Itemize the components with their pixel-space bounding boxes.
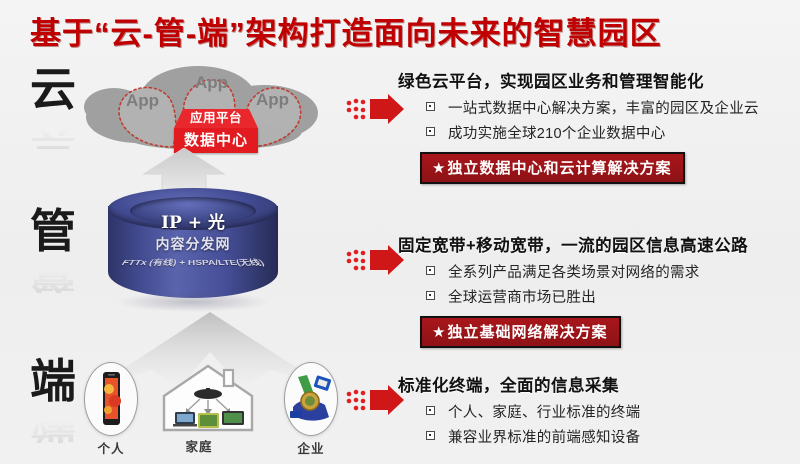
bullet-square-icon xyxy=(426,127,435,136)
list-item: 个人、家庭、行业标准的终端 xyxy=(426,401,798,422)
terminal-bullet-list: 个人、家庭、行业标准的终端 兼容业界标准的前端感知设备 xyxy=(426,401,798,447)
datacenter-box: 应用平台 数据中心 xyxy=(174,109,258,153)
bullet-square-icon xyxy=(426,102,435,111)
text-block-pipe: 固定宽带+移动宽带，一流的园区信息高速公路 全系列产品满足各类场景对网络的需求 … xyxy=(398,232,798,348)
bullet-square-icon xyxy=(426,406,435,415)
industrial-meter-icon xyxy=(284,362,338,436)
app-bubble-right-label: App xyxy=(256,90,289,110)
cylinder-shadow xyxy=(116,292,270,312)
pipe-bullet-list: 全系列产品满足各类场景对网络的需求 全球运营商市场已胜出 xyxy=(426,261,798,307)
app-bubble-left-label: App xyxy=(126,91,159,111)
page-title: 基于“云-管-端”架构打造面向未来的智慧园区 xyxy=(30,8,770,53)
star-icon: ★ xyxy=(432,324,446,341)
cloud-callout-badge: ★独立数据中心和云计算解决方案 xyxy=(420,152,685,184)
red-arrow-cloud-icon xyxy=(344,92,406,126)
cloud-graphic: App App App 应用平台 数据中心 xyxy=(78,55,346,160)
cloud-bullet-2: 成功实施全球210个企业数据中心 xyxy=(448,126,666,142)
bullet-square-icon xyxy=(426,266,435,275)
red-arrow-pipe-icon xyxy=(344,243,406,277)
text-block-cloud: 绿色云平台，实现园区业务和管理智能化 一站式数据中心解决方案，丰富的园区及企业云… xyxy=(398,68,798,184)
pipe-callout-badge: ★独立基础网络解决方案 xyxy=(420,316,621,348)
terminal-enterprise-label: 企业 xyxy=(272,438,350,457)
layer-label-pipe: 管 管 xyxy=(22,208,84,302)
terminal-bullet-1: 个人、家庭、行业标准的终端 xyxy=(448,405,640,421)
cylinder-cdn-label: 内容分发网 xyxy=(100,234,286,254)
layer-label-pipe-reflection: 管 xyxy=(22,265,84,294)
terminal-home[interactable]: 家庭 xyxy=(160,362,238,455)
cloud-callout-text: 独立数据中心和云计算解决方案 xyxy=(447,160,671,177)
layer-label-cloud-text: 云 xyxy=(30,62,76,116)
terminal-personal[interactable]: 个人 xyxy=(72,362,150,457)
list-item: 成功实施全球210个企业数据中心 xyxy=(426,122,798,143)
terminal-heading: 标准化终端，全面的信息采集 xyxy=(398,372,798,396)
cylinder-access-label: FTTx (有线) + HSPA/LTE(无线) xyxy=(95,256,292,267)
app-bubble-mid-label: App xyxy=(195,73,228,93)
terminal-enterprise[interactable]: 企业 xyxy=(272,362,350,457)
slide-canvas: 基于“云-管-端”架构打造面向未来的智慧园区 云 云 管 管 端 端 xyxy=(0,0,800,464)
text-block-terminal: 标准化终端，全面的信息采集 个人、家庭、行业标准的终端 兼容业界标准的前端感知设… xyxy=(398,372,798,451)
house-icon xyxy=(160,362,256,434)
list-item: 兼容业界标准的前端感知设备 xyxy=(426,426,798,447)
pipe-callout-text: 独立基础网络解决方案 xyxy=(447,324,607,341)
layer-label-cloud: 云 云 xyxy=(22,66,84,160)
cloud-heading: 绿色云平台，实现园区业务和管理智能化 xyxy=(398,68,798,92)
list-item: 全球运营商市场已胜出 xyxy=(426,286,798,307)
bullet-square-icon xyxy=(426,431,435,440)
terminal-home-label: 家庭 xyxy=(160,436,238,455)
cloud-bullet-1: 一站式数据中心解决方案，丰富的园区及企业云 xyxy=(448,101,759,117)
layer-label-pipe-text: 管 xyxy=(30,204,76,258)
smartphone-icon xyxy=(84,362,138,436)
pipe-bullet-2: 全球运营商市场已胜出 xyxy=(448,290,596,306)
bullet-square-icon xyxy=(426,291,435,300)
terminal-personal-label: 个人 xyxy=(72,438,150,457)
list-item: 全系列产品满足各类场景对网络的需求 xyxy=(426,261,798,282)
cylinder-ip-optical-label: IP + 光 xyxy=(100,208,286,233)
list-item: 一站式数据中心解决方案，丰富的园区及企业云 xyxy=(426,97,798,118)
pipe-bullet-1: 全系列产品满足各类场景对网络的需求 xyxy=(448,265,700,281)
red-arrow-terminal-icon xyxy=(344,383,406,417)
terminal-bullet-2: 兼容业界标准的前端感知设备 xyxy=(448,430,640,446)
pipe-heading: 固定宽带+移动宽带，一流的园区信息高速公路 xyxy=(398,232,798,256)
star-icon: ★ xyxy=(432,160,446,177)
cloud-bullet-list: 一站式数据中心解决方案，丰富的园区及企业云 成功实施全球210个企业数据中心 xyxy=(426,97,798,143)
application-platform-label: 应用平台 xyxy=(174,109,258,128)
network-cylinder: IP + 光 内容分发网 FTTx (有线) + HSPA/LTE(无线) xyxy=(100,188,286,320)
layer-label-cloud-reflection: 云 xyxy=(22,123,84,152)
